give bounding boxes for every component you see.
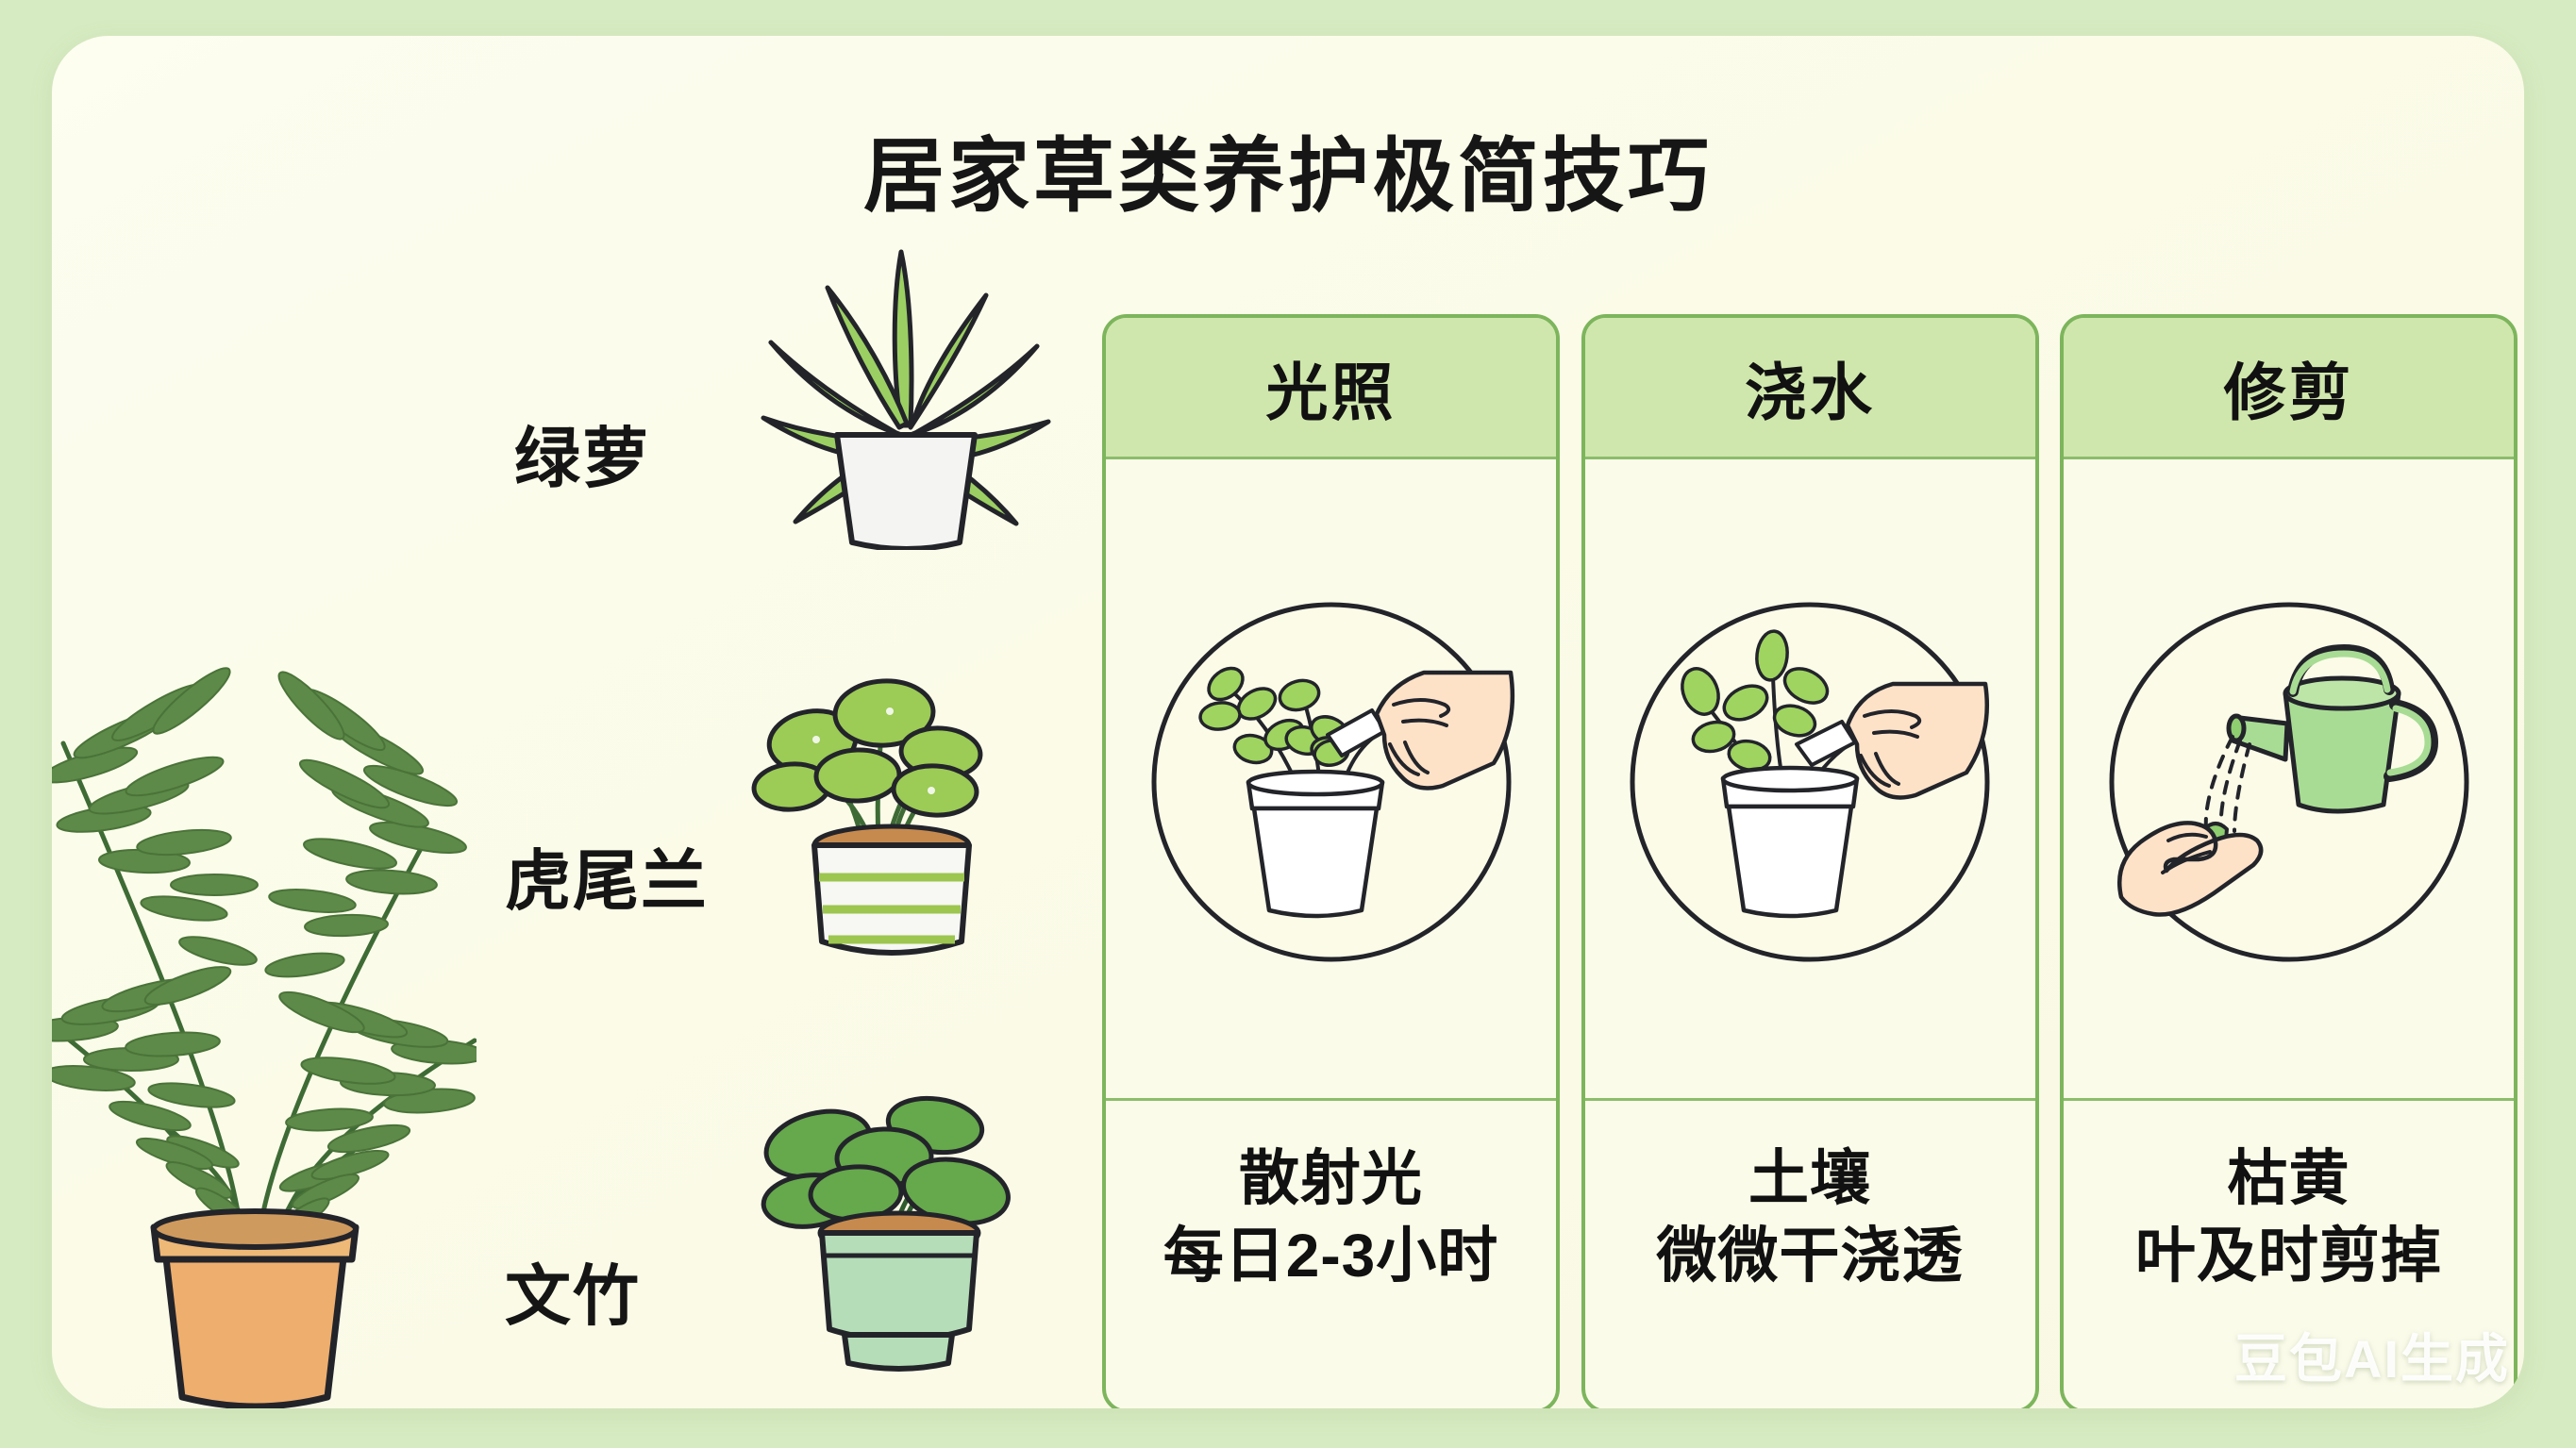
card-header-text-water: 浇水	[1745, 342, 1875, 433]
care-card-water[interactable]: 浇水	[1581, 314, 2039, 1408]
card-footer-line-1: 枯黄	[2228, 1140, 2350, 1218]
pilea-striped-pot-illustration	[750, 658, 1033, 974]
hand-with-tool-and-potted-plant-icon	[1621, 593, 1999, 971]
card-header-water: 浇水	[1585, 318, 2035, 459]
watering-can-over-hand-icon	[2100, 593, 2478, 971]
plant-row-pilea-striped: 虎尾兰	[505, 658, 1033, 974]
card-footer-water: 土壤 微微干浇透	[1585, 1098, 2035, 1408]
card-footer-line-2: 微微干浇透	[1657, 1218, 1964, 1295]
card-footer-line-1: 土壤	[1748, 1140, 1871, 1218]
card-header-prune: 修剪	[2064, 318, 2514, 459]
card-icon-area-light	[1106, 459, 1556, 1098]
hand-with-tool-and-potted-plant-icon	[1143, 593, 1520, 971]
card-footer-line-1: 散射光	[1239, 1140, 1423, 1218]
card-header-light: 光照	[1106, 318, 1556, 459]
main-panel: 居家草类养护极简技巧	[52, 36, 2524, 1408]
card-header-text-light: 光照	[1266, 342, 1397, 433]
plant-row-spider: 绿萝	[514, 239, 1062, 555]
pilea-mint-pot-illustration	[750, 1040, 1052, 1385]
card-icon-area-prune	[2064, 459, 2514, 1098]
spider-plant-illustration	[750, 239, 1062, 555]
page-title: 居家草类养护极简技巧	[52, 109, 2524, 227]
plant-label-1: 绿萝	[514, 292, 750, 501]
plant-row-pilea-mint: 文竹	[505, 1040, 1052, 1385]
card-icon-area-water	[1585, 459, 2035, 1098]
card-footer-line-2: 每日2-3小时	[1163, 1218, 1499, 1295]
card-footer-prune: 枯黄 叶及时剪掉	[2064, 1098, 2514, 1408]
card-footer-light: 散射光 每日2-3小时	[1106, 1098, 1556, 1408]
care-card-prune[interactable]: 修剪	[2060, 314, 2517, 1408]
care-card-light[interactable]: 光照	[1102, 314, 1560, 1408]
plant-label-2: 虎尾兰	[505, 710, 750, 924]
plant-label-3: 文竹	[505, 1088, 750, 1339]
care-cards-group: 光照	[1102, 314, 2517, 1408]
hero-palm-illustration	[52, 550, 477, 1408]
card-header-text-prune: 修剪	[2224, 342, 2354, 433]
card-footer-line-2: 叶及时剪掉	[2135, 1218, 2442, 1295]
